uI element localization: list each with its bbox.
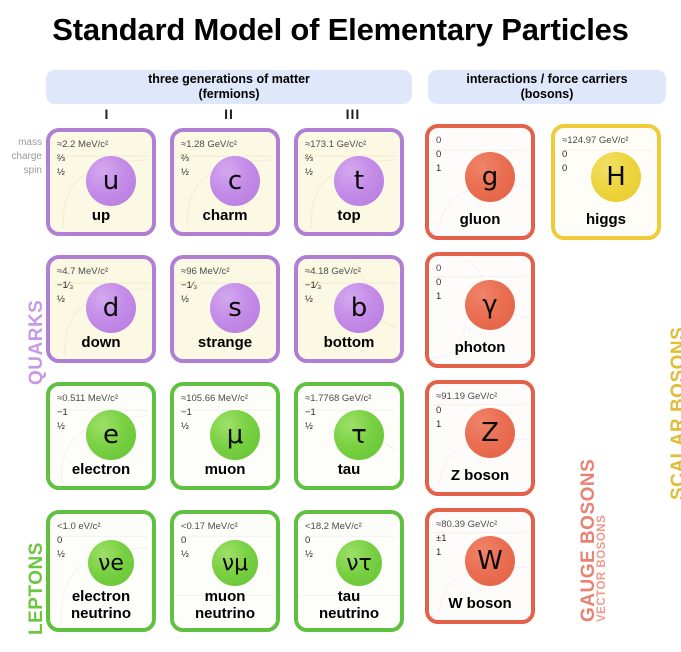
particle-name-line2: neutrino	[50, 605, 152, 622]
particle-symbol-muon: μ	[210, 410, 260, 460]
particle-symbol-higgs: H	[591, 152, 641, 202]
family-label-vector-bosons: VECTOR BOSONS	[596, 515, 608, 622]
particle-mass: <1.0 eV/c²	[57, 520, 101, 534]
particle-cell-zboson[interactable]: ≈91.19 GeV/c² 0 1 Z Z boson	[425, 380, 535, 496]
particle-symbol-zboson: Z	[465, 408, 515, 458]
particle-mass: ≈2.2 MeV/c²	[57, 138, 108, 152]
particle-charge: 0	[436, 148, 441, 162]
particle-mass: <18.2 MeV/c²	[305, 520, 362, 534]
particle-cell-bottom[interactable]: ≈4.18 GeV/c² −1⁄₃ ½ b bottom	[294, 255, 404, 363]
particle-mass: ≈4.7 MeV/c²	[57, 265, 108, 279]
particle-mass: ≈91.19 GeV/c²	[436, 390, 497, 404]
particle-mass: ≈4.18 GeV/c²	[305, 265, 361, 279]
axis-label-charge: charge	[0, 150, 44, 164]
particle-name-top: top	[298, 207, 400, 224]
particle-cell-muon-neutrino[interactable]: <0.17 MeV/c² 0 ½ νμ muon neutrino	[170, 510, 280, 632]
particle-name-photon: photon	[429, 339, 531, 356]
particle-symbol-tau-neutrino: ντ	[336, 540, 382, 586]
particle-spin: 1	[436, 162, 441, 176]
particle-symbol-bottom: b	[334, 283, 384, 333]
particle-name-wboson: W boson	[429, 595, 531, 612]
standard-model-diagram: Standard Model of Elementary Particles t…	[0, 0, 681, 652]
particle-name-bottom: bottom	[298, 334, 400, 351]
particle-name-zboson: Z boson	[429, 467, 531, 484]
bosons-header-line2: (bosons)	[521, 87, 574, 102]
bosons-header-line1: interactions / force carriers	[466, 72, 627, 87]
particle-name-gluon: gluon	[429, 211, 531, 228]
particle-symbol-tau: τ	[334, 410, 384, 460]
particle-properties-photon: 0 0 1	[436, 262, 441, 304]
particle-cell-top[interactable]: ≈173.1 GeV/c² ⅔ ½ t top	[294, 128, 404, 236]
fermions-header: three generations of matter (fermions)	[46, 70, 412, 104]
particle-spin: 1	[436, 290, 441, 304]
particle-symbol-charm: c	[210, 156, 260, 206]
particle-name-line2: neutrino	[174, 605, 276, 622]
particle-name-up: up	[50, 207, 152, 224]
fermions-header-line1: three generations of matter	[148, 72, 310, 87]
particle-cell-wboson[interactable]: ≈80.39 GeV/c² ±1 1 W W boson	[425, 508, 535, 624]
particle-mass: 0	[436, 134, 441, 148]
particle-name-line2: neutrino	[298, 605, 400, 622]
particle-name-tau: tau	[298, 461, 400, 478]
particle-symbol-up: u	[86, 156, 136, 206]
generation-label-3: III	[292, 106, 414, 122]
particle-symbol-electron-neutrino: νe	[88, 540, 134, 586]
particle-cell-photon[interactable]: 0 0 1 γ photon	[425, 252, 535, 368]
family-label-quarks: QUARKS	[26, 300, 48, 385]
particle-name-tau-neutrino: tau neutrino	[298, 588, 400, 622]
particle-symbol-muon-neutrino: νμ	[212, 540, 258, 586]
particle-mass: ≈1.7768 GeV/c²	[305, 392, 371, 406]
particle-symbol-electron: e	[86, 410, 136, 460]
particle-mass: 0	[436, 262, 441, 276]
generation-label-1: I	[46, 106, 168, 122]
particle-mass: ≈80.39 GeV/c²	[436, 518, 497, 532]
particle-cell-muon[interactable]: ≈105.66 MeV/c² −1 ½ μ muon	[170, 382, 280, 490]
particle-cell-electron[interactable]: ≈0.511 MeV/c² −1 ½ e electron	[46, 382, 156, 490]
particle-name-electron-neutrino: electron neutrino	[50, 588, 152, 622]
generation-label-2: II	[168, 106, 290, 122]
particle-name-electron: electron	[50, 461, 152, 478]
particle-mass: <0.17 MeV/c²	[181, 520, 238, 534]
particle-mass: ≈96 MeV/c²	[181, 265, 230, 279]
particle-mass: ≈173.1 GeV/c²	[305, 138, 366, 152]
particle-symbol-wboson: W	[465, 536, 515, 586]
particle-cell-electron-neutrino[interactable]: <1.0 eV/c² 0 ½ νe electron neutrino	[46, 510, 156, 632]
particle-charge: 0	[436, 276, 441, 290]
particle-symbol-down: d	[86, 283, 136, 333]
particle-mass: ≈124.97 GeV/c²	[562, 134, 628, 148]
particle-name-line1: electron	[50, 588, 152, 605]
axis-label-spin: spin	[0, 164, 44, 178]
particle-cell-charm[interactable]: ≈1.28 GeV/c² ⅔ ½ c charm	[170, 128, 280, 236]
particle-cell-tau-neutrino[interactable]: <18.2 MeV/c² 0 ½ ντ tau neutrino	[294, 510, 404, 632]
particle-cell-gluon[interactable]: 0 0 1 g gluon	[425, 124, 535, 240]
particle-mass: ≈105.66 MeV/c²	[181, 392, 248, 406]
fermions-header-line2: (fermions)	[198, 87, 259, 102]
page-title: Standard Model of Elementary Particles	[0, 12, 681, 48]
axis-label-mass: mass	[0, 136, 44, 150]
particle-cell-strange[interactable]: ≈96 MeV/c² −1⁄₃ ½ s strange	[170, 255, 280, 363]
particle-mass: ≈0.511 MeV/c²	[57, 392, 118, 406]
particle-mass: ≈1.28 GeV/c²	[181, 138, 237, 152]
particle-name-muon: muon	[174, 461, 276, 478]
particle-name-muon-neutrino: muon neutrino	[174, 588, 276, 622]
particle-name-charm: charm	[174, 207, 276, 224]
particle-name-down: down	[50, 334, 152, 351]
particle-name-strange: strange	[174, 334, 276, 351]
particle-properties-gluon: 0 0 1	[436, 134, 441, 176]
particle-name-line1: muon	[174, 588, 276, 605]
bosons-header: interactions / force carriers (bosons)	[428, 70, 666, 104]
particle-cell-down[interactable]: ≈4.7 MeV/c² −1⁄₃ ½ d down	[46, 255, 156, 363]
family-label-scalar-bosons: SCALAR BOSONS	[668, 327, 681, 500]
particle-name-line1: tau	[298, 588, 400, 605]
particle-cell-up[interactable]: ≈2.2 MeV/c² ⅔ ½ u up	[46, 128, 156, 236]
property-axis-labels: mass charge spin	[0, 136, 44, 178]
particle-symbol-photon: γ	[465, 280, 515, 330]
family-label-leptons: LEPTONS	[26, 542, 48, 635]
particle-symbol-top: t	[334, 156, 384, 206]
particle-cell-tau[interactable]: ≈1.7768 GeV/c² −1 ½ τ tau	[294, 382, 404, 490]
particle-cell-higgs[interactable]: ≈124.97 GeV/c² 0 0 H higgs	[551, 124, 661, 240]
particle-name-higgs: higgs	[555, 211, 657, 228]
particle-symbol-gluon: g	[465, 152, 515, 202]
particle-symbol-strange: s	[210, 283, 260, 333]
